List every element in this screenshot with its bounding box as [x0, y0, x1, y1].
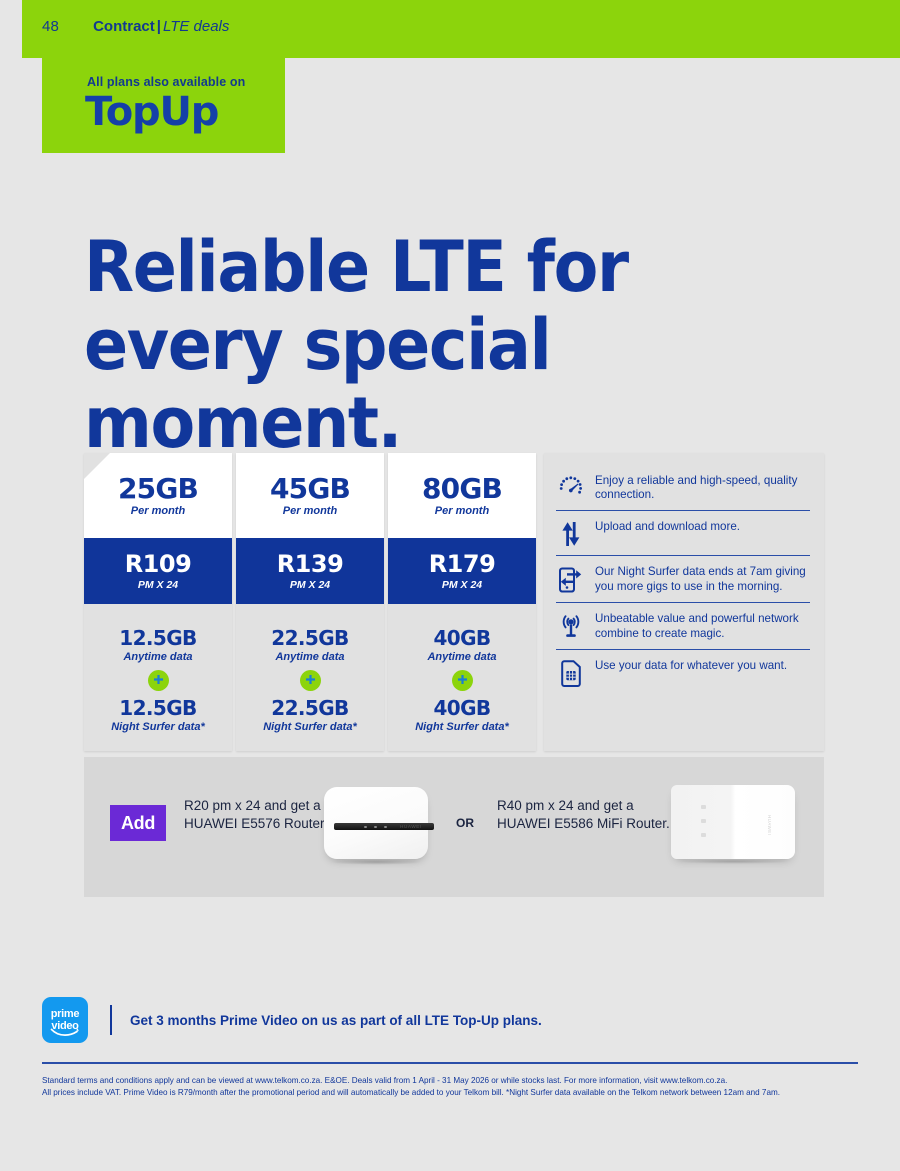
plan-night-label: Night Surfer data*	[263, 721, 357, 733]
breadcrumb: Contract|LTE deals	[93, 18, 229, 35]
amazon-smile-icon	[50, 1027, 80, 1036]
feature-item: Our Night Surfer data ends at 7am giving…	[556, 556, 810, 603]
plan-anytime-label: Anytime data	[123, 651, 192, 663]
router-led	[374, 826, 377, 828]
router-led	[701, 805, 706, 809]
router-shadow	[677, 859, 789, 864]
or-separator-label: OR	[456, 816, 474, 830]
plan-data-amount: 45GB	[270, 474, 350, 504]
plan-price: R139	[277, 551, 344, 577]
plan-night-amount: 12.5GB	[119, 697, 196, 719]
prime-video-logo-line1: prime	[51, 1009, 79, 1020]
feature-text: Use your data for whatever you want.	[595, 658, 787, 673]
header-breadcrumb: 48 Contract|LTE deals	[42, 18, 229, 35]
plus-icon	[452, 670, 473, 691]
plan-data-amount: 80GB	[422, 474, 502, 504]
plan-night-amount: 40GB	[433, 697, 490, 719]
plans-section: 25GB Per month R109 PM X 24 12.5GB Anyti…	[84, 453, 824, 751]
footer-line-2: All prices include VAT. Prime Video is R…	[42, 1086, 847, 1098]
footer-line-1: Standard terms and conditions apply and …	[42, 1074, 847, 1086]
plan-anytime-amount: 22.5GB	[271, 627, 348, 649]
add-badge[interactable]: Add	[110, 805, 166, 841]
features-panel: Enjoy a reliable and high-speed, quality…	[544, 453, 824, 751]
prime-video-promo: prime video Get 3 months Prime Video on …	[42, 997, 542, 1043]
huawei-e5576-router-image: HUAWEI	[316, 783, 436, 867]
router-body: HUAWEI	[671, 785, 795, 859]
plan-night-amount: 22.5GB	[271, 697, 348, 719]
footer-terms: Standard terms and conditions apply and …	[42, 1074, 847, 1099]
plan-price-band: R109 PM X 24	[84, 538, 232, 604]
feature-text: Upload and download more.	[595, 519, 740, 534]
plan-card-body: 12.5GB Anytime data 12.5GB Night Surfer …	[84, 604, 232, 751]
feature-item: Enjoy a reliable and high-speed, quality…	[556, 465, 810, 511]
speedometer-icon	[556, 473, 586, 499]
breadcrumb-section: Contract	[93, 18, 155, 35]
signal-tower-icon	[556, 611, 586, 639]
plan-data-amount: 25GB	[118, 474, 198, 504]
plan-card[interactable]: 80GB Per month R179 PM X 24 40GB Anytime…	[388, 453, 536, 751]
breadcrumb-separator: |	[157, 18, 161, 35]
sim-card-icon	[556, 658, 586, 688]
phone-data-transfer-icon	[556, 564, 586, 594]
feature-item: Unbeatable value and powerful network co…	[556, 603, 810, 649]
prime-video-promo-text: Get 3 months Prime Video on us as part o…	[130, 1013, 542, 1028]
plan-data-period: Per month	[283, 505, 337, 517]
topup-logo-text: TopUp	[85, 89, 218, 135]
plan-anytime-amount: 40GB	[433, 627, 490, 649]
plan-price: R109	[125, 551, 192, 577]
plan-card-body: 22.5GB Anytime data 22.5GB Night Surfer …	[236, 604, 384, 751]
page-number: 48	[42, 18, 59, 35]
topup-caption: All plans also available on	[87, 75, 245, 89]
plan-price: R179	[429, 551, 496, 577]
prime-video-logo: prime video	[42, 997, 88, 1043]
plus-icon	[148, 670, 169, 691]
plan-price-term: PM X 24	[290, 579, 330, 591]
feature-item: Use your data for whatever you want.	[556, 650, 810, 696]
plan-card-header: 80GB Per month	[388, 453, 536, 538]
brochure-page: 48 Contract|LTE deals All plans also ava…	[0, 0, 900, 1171]
plan-card[interactable]: 25GB Per month R109 PM X 24 12.5GB Anyti…	[84, 453, 232, 751]
plan-price-band: R139 PM X 24	[236, 538, 384, 604]
plan-price-band: R179 PM X 24	[388, 538, 536, 604]
feature-item: Upload and download more.	[556, 511, 810, 556]
huawei-e5586-router-image: HUAWEI	[667, 779, 799, 871]
router-brand-label: HUAWEI	[400, 824, 422, 829]
header-band: 48 Contract|LTE deals	[22, 0, 900, 58]
router-led	[364, 826, 367, 828]
upload-download-arrows-icon	[556, 519, 586, 547]
plan-card-header: 45GB Per month	[236, 453, 384, 538]
plan-price-term: PM X 24	[442, 579, 482, 591]
router-body: HUAWEI	[324, 787, 428, 859]
footer-divider	[42, 1062, 858, 1064]
plan-data-period: Per month	[435, 505, 489, 517]
breadcrumb-subsection: LTE deals	[163, 18, 229, 35]
vertical-divider	[110, 1005, 112, 1035]
feature-text: Unbeatable value and powerful network co…	[595, 611, 810, 640]
router-led	[384, 826, 387, 828]
router-led	[701, 833, 706, 837]
router-shadow	[330, 859, 422, 865]
feature-text: Our Night Surfer data ends at 7am giving…	[595, 564, 810, 593]
plan-card-body: 40GB Anytime data 40GB Night Surfer data…	[388, 604, 536, 751]
feature-text: Enjoy a reliable and high-speed, quality…	[595, 473, 810, 502]
plan-anytime-amount: 12.5GB	[119, 627, 196, 649]
plus-icon	[300, 670, 321, 691]
topup-flag: All plans also available on TopUp	[42, 57, 285, 153]
plan-data-period: Per month	[131, 505, 185, 517]
plan-anytime-label: Anytime data	[275, 651, 344, 663]
page-headline: Reliable LTE for every special moment.	[84, 228, 819, 462]
plan-card-header: 25GB Per month	[84, 453, 232, 538]
router-brand-label: HUAWEI	[767, 815, 772, 835]
plan-price-term: PM X 24	[138, 579, 178, 591]
plan-night-label: Night Surfer data*	[415, 721, 509, 733]
plan-anytime-label: Anytime data	[427, 651, 496, 663]
router-offer-2-text: R40 pm x 24 and get a HUAWEI E5586 MiFi …	[497, 797, 682, 833]
router-addon-panel: Add R20 pm x 24 and get a HUAWEI E5576 R…	[84, 757, 824, 897]
plan-night-label: Night Surfer data*	[111, 721, 205, 733]
router-led	[701, 819, 706, 823]
plan-card[interactable]: 45GB Per month R139 PM X 24 22.5GB Anyti…	[236, 453, 384, 751]
